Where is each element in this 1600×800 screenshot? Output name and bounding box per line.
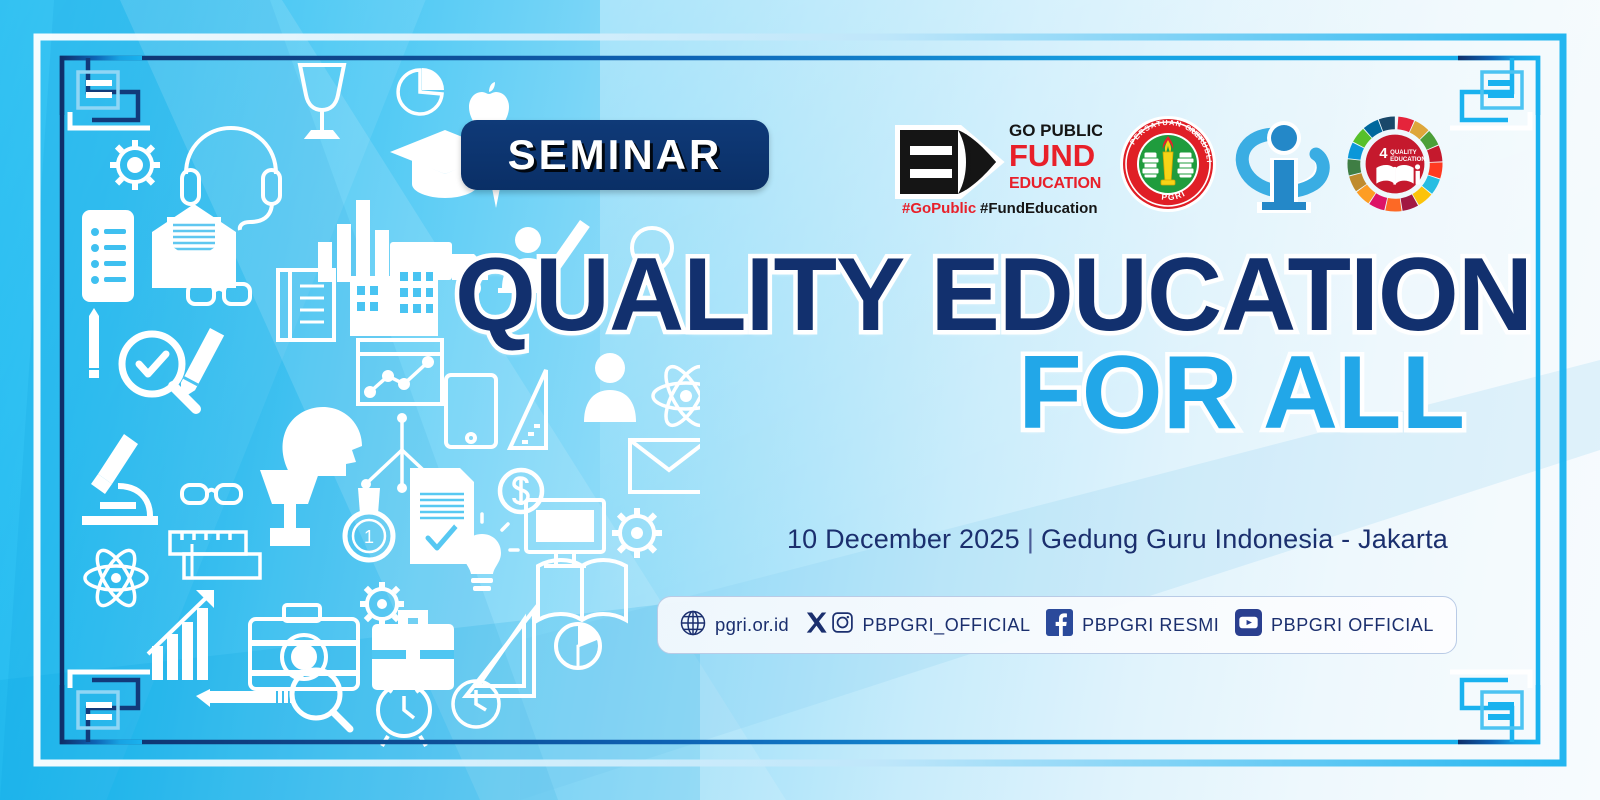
document-check-icon <box>410 468 474 564</box>
line-chart-icon <box>358 340 442 404</box>
sdg-4-quality-education-logo: 4 QUALITY EDUCATION <box>1346 115 1444 213</box>
search-icon <box>292 670 350 729</box>
fund-line: FUND <box>1009 138 1095 173</box>
open-book-icon <box>538 560 626 620</box>
notebook-icon <box>278 270 334 340</box>
sdg-pencil-icon <box>1415 164 1420 184</box>
social-item-youtube[interactable]: PBPGRI OFFICIAL <box>1235 609 1434 641</box>
gear-2-icon <box>612 508 662 558</box>
network-node-icon <box>361 413 443 493</box>
magnifier-check-icon <box>122 334 196 409</box>
youtube-icon <box>1235 609 1262 641</box>
ruler-book-icon <box>170 532 260 578</box>
corner-ornament-top-right <box>1450 58 1538 128</box>
headphones-icon <box>182 128 280 230</box>
education-international-logo <box>1234 114 1330 214</box>
svg-text:1: 1 <box>364 527 374 547</box>
instagram-icon <box>831 611 854 639</box>
event-date-venue: 10 December 2025|Gedung Guru Indonesia -… <box>787 524 1448 555</box>
trophy-cup-icon <box>260 470 320 546</box>
bar-chart-icon <box>318 200 389 282</box>
lightbulb-icon <box>446 514 518 591</box>
go-public-fund-education-logo: GO PUBLIC! FUND EDUCATION #GoPublic #Fun… <box>892 110 1102 218</box>
smartphone-list-icon <box>82 210 134 302</box>
bg-shard-bottom <box>0 600 700 800</box>
pie-slice-icon <box>556 624 600 668</box>
briefcase-icon <box>372 610 454 690</box>
event-separator: | <box>1020 524 1041 554</box>
head-profile-icon <box>283 407 362 476</box>
headline: QUALITY EDUCATION FOR ALL <box>455 250 1465 439</box>
eyeglasses-2-icon <box>182 485 241 503</box>
atom-2-icon <box>85 545 147 611</box>
corner-ornament-bottom-right <box>1450 672 1538 742</box>
seminar-badge: SEMINAR <box>461 120 769 190</box>
youtube-label: PBPGRI OFFICIAL <box>1271 615 1434 636</box>
facebook-icon <box>1046 609 1073 641</box>
gear-3-icon <box>360 582 404 626</box>
sdg-line2: EDUCATION <box>1390 157 1426 163</box>
x-instagram-label: PBPGRI_OFFICIAL <box>863 615 1031 636</box>
hashtag-fundeducation: #FundEducation <box>980 200 1098 217</box>
gear-icon <box>110 140 160 190</box>
social-item-website[interactable]: pgri.or.id <box>680 610 789 641</box>
pgri-logo: PERSATUAN GURU REPUBLIK INDONESIA PGRI <box>1118 114 1218 214</box>
seminar-banner: 1 <box>0 0 1600 800</box>
event-date: 10 December 2025 <box>787 524 1020 554</box>
event-venue: Gedung Guru Indonesia - Jakarta <box>1041 524 1448 554</box>
pie-chart-icon <box>398 68 444 114</box>
sdg-line1: QUALITY <box>1390 150 1417 156</box>
pen-icon <box>89 308 99 378</box>
x-icon <box>805 611 828 639</box>
monitor-screen-icon <box>526 500 604 566</box>
social-item-facebook[interactable]: PBPGRI RESMI <box>1046 609 1219 641</box>
social-item-x-instagram[interactable]: PBPGRI_OFFICIAL <box>805 611 1031 639</box>
social-media-bar: pgri.or.id PBPGRI_OFFICIAL <box>657 596 1457 654</box>
medal-icon: 1 <box>345 488 393 560</box>
headline-line-1: QUALITY EDUCATION <box>455 250 1465 342</box>
corner-ornament-bottom-left <box>62 672 150 742</box>
alarm-clock-icon <box>378 684 430 746</box>
camera-icon <box>250 605 358 689</box>
pencil-large-icon <box>174 328 224 403</box>
clock-icon <box>453 681 499 727</box>
set-square-icon <box>466 610 534 696</box>
envelope-mail-icon <box>152 204 236 288</box>
headline-line-2: FOR ALL <box>455 348 1465 440</box>
education-line: EDUCATION <box>1009 175 1101 192</box>
trophy-goblet-icon <box>300 65 344 137</box>
building-school-icon <box>350 262 438 336</box>
pencil-flat-icon <box>196 689 294 707</box>
globe-icon <box>680 610 706 641</box>
dollar-coin-icon <box>500 470 542 512</box>
growth-chart-icon <box>148 590 214 680</box>
sdg-number: 4 <box>1379 146 1388 162</box>
eyeglasses-icon <box>188 284 250 304</box>
envelope-icon <box>630 440 700 492</box>
seminar-badge-label: SEMINAR <box>508 134 723 176</box>
hashtag-gopublic: #GoPublic <box>902 200 976 217</box>
corner-ornament-top-left <box>62 58 150 128</box>
facebook-label: PBPGRI RESMI <box>1082 615 1219 636</box>
microscope-icon <box>82 434 158 525</box>
logo-row: GO PUBLIC! FUND EDUCATION #GoPublic #Fun… <box>892 108 1444 220</box>
website-label: pgri.or.id <box>715 614 789 636</box>
